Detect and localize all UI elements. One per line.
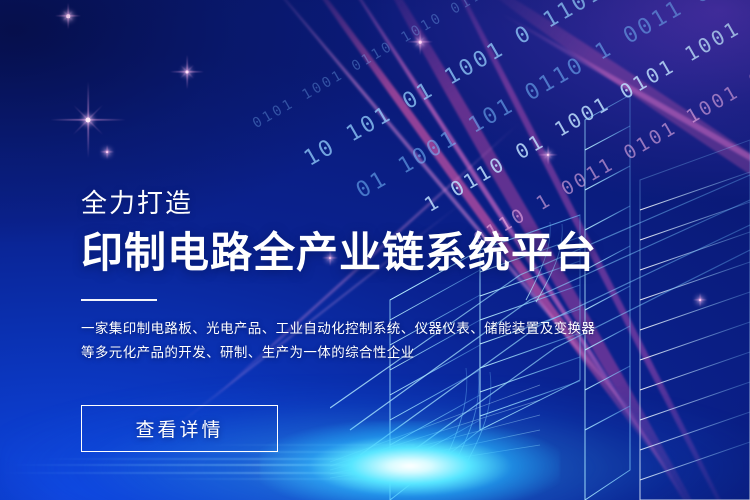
hero-divider	[81, 299, 157, 301]
hero-banner: 10 101 01 1001 0 1101 01 1001 1 0110 101…	[0, 0, 750, 500]
hero-description-line-1: 一家集印制电路板、光电产品、工业自动化控制系统、仪器仪表、储能装置及变换器	[81, 317, 641, 341]
hero-copy: 全力打造 印制电路全产业链系统平台 一家集印制电路板、光电产品、工业自动化控制系…	[81, 190, 641, 365]
hero-headline: 印制电路全产业链系统平台	[81, 230, 641, 275]
hero-description: 一家集印制电路板、光电产品、工业自动化控制系统、仪器仪表、储能装置及变换器 等多…	[81, 317, 641, 365]
view-details-button[interactable]: 查看详情	[81, 405, 278, 452]
hero-eyebrow: 全力打造	[81, 190, 641, 216]
hero-description-line-2: 等多元化产品的开发、研制、生产为一体的综合性企业	[81, 341, 641, 365]
